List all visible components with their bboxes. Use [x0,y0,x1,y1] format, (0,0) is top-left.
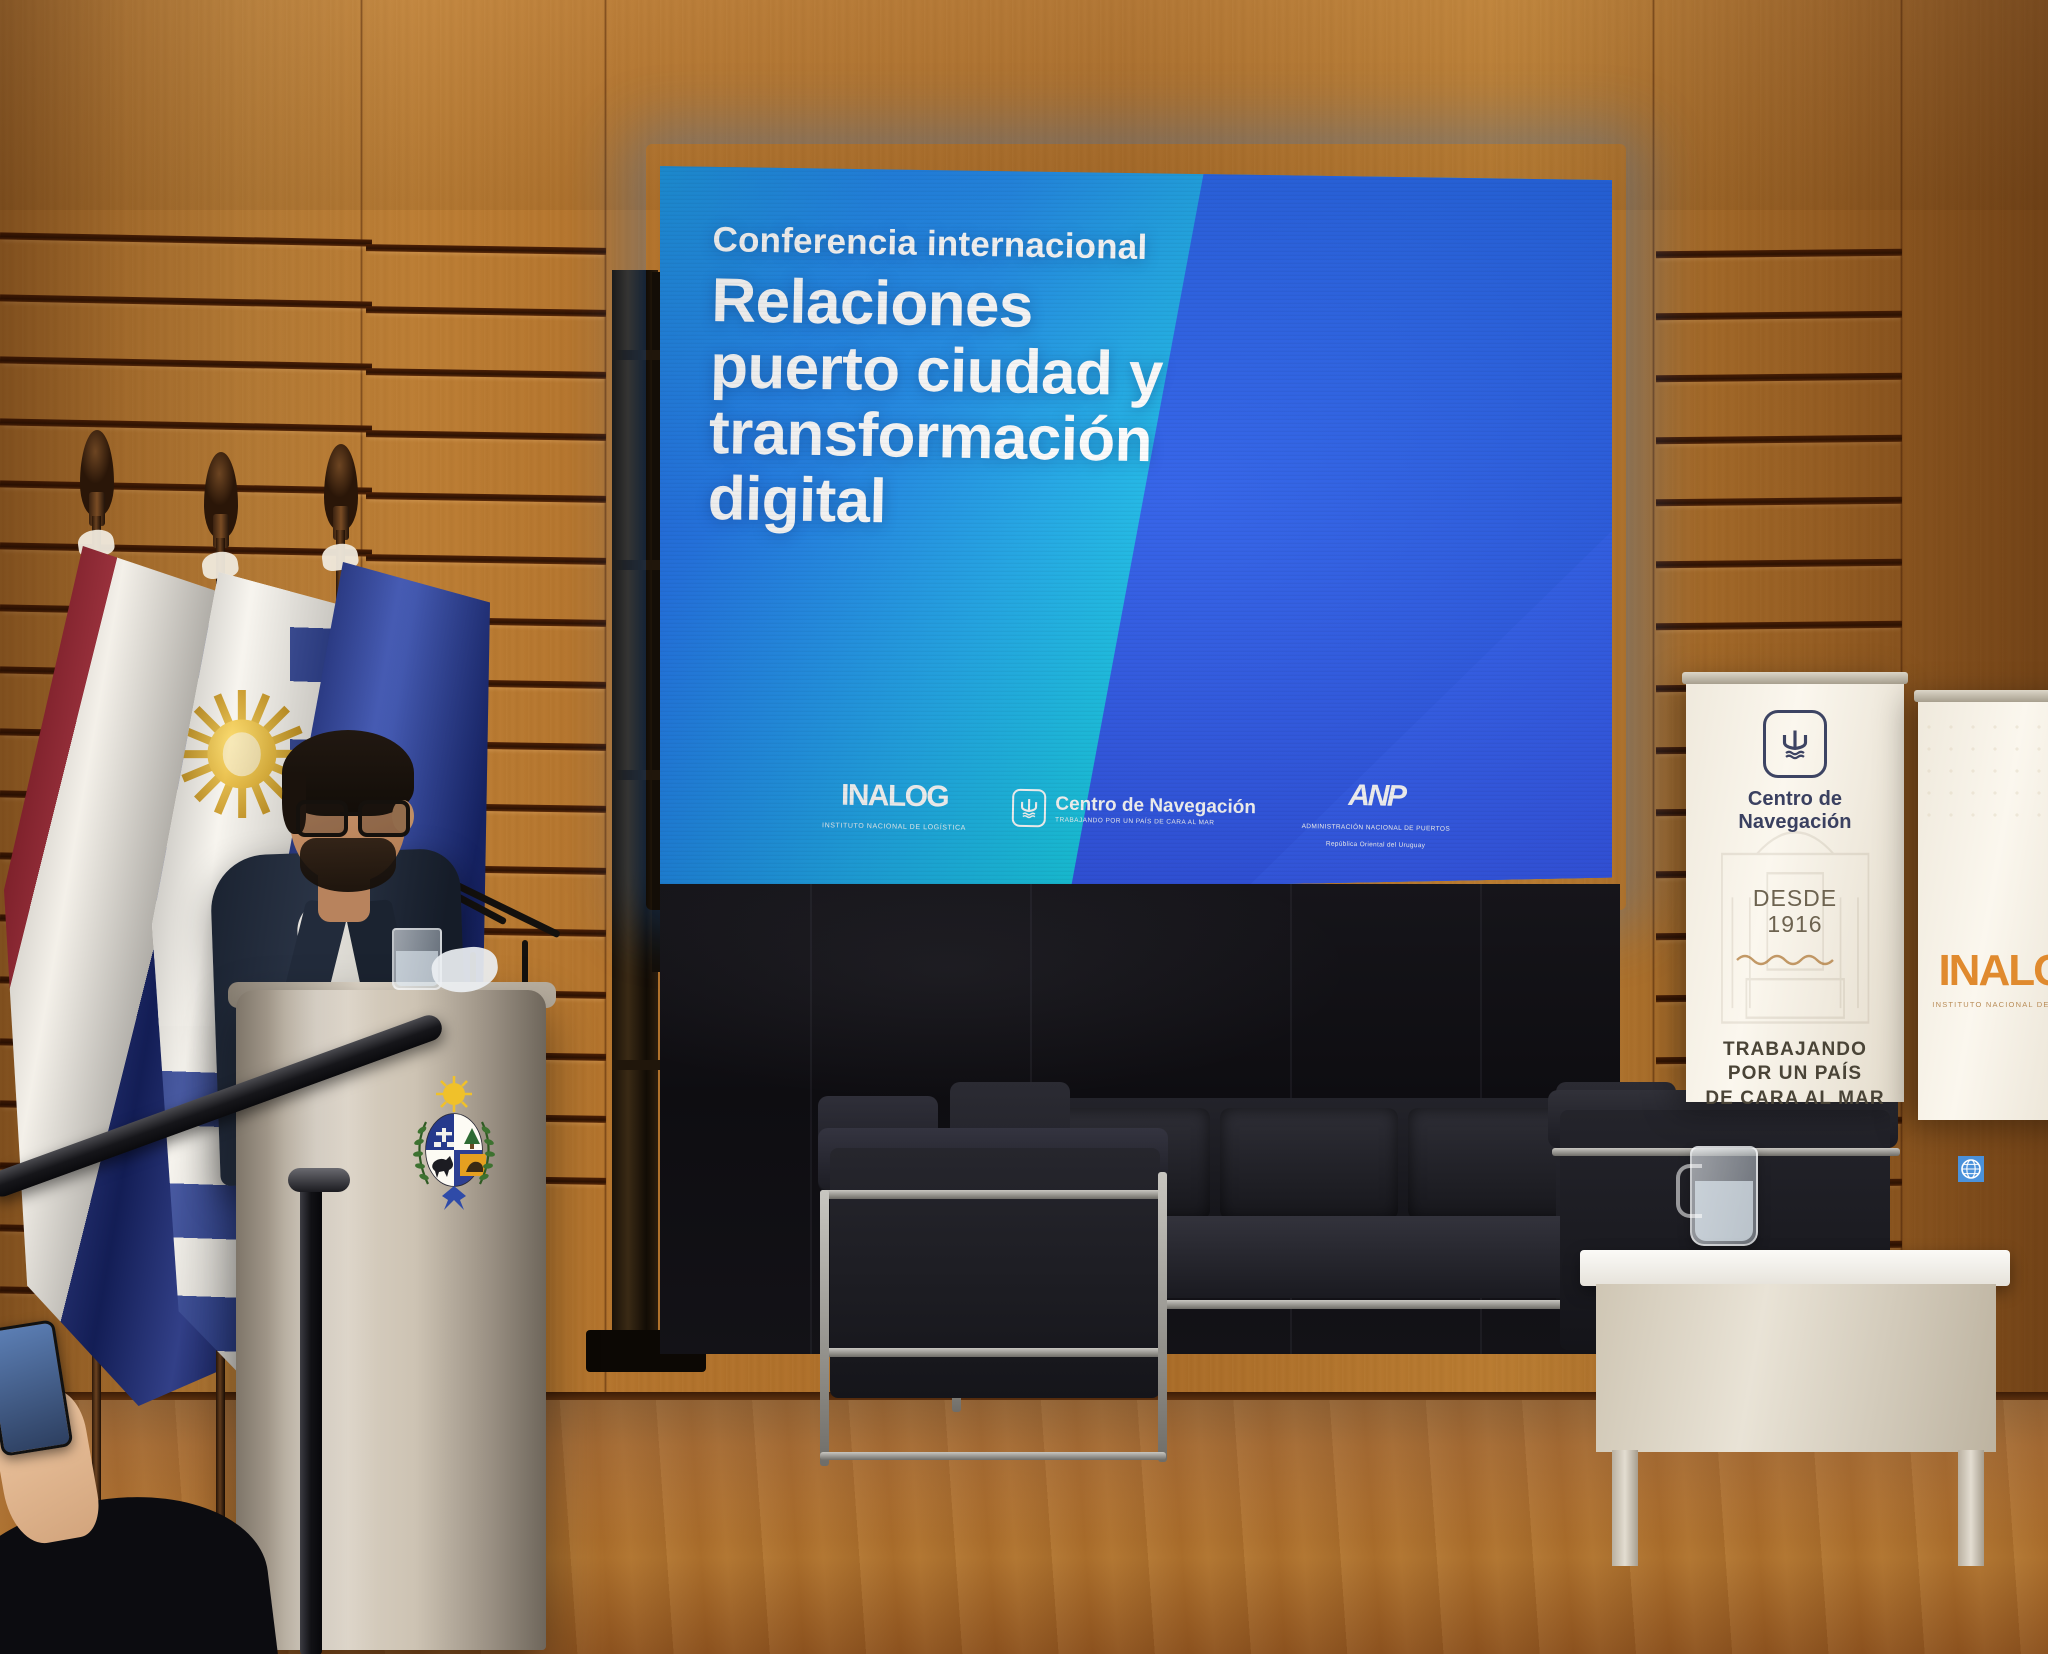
banner-rail [1682,672,1908,684]
sofa-cushion [1220,1108,1398,1220]
banner-centro-navegacion: Centro de Navegación DESDE 1916 TRABAJAN… [1686,672,1904,1102]
banner-cn-slogan-3: DE CARA AL MAR [1705,1088,1884,1109]
led-screen[interactable]: Conferencia internacional Relaciones pue… [660,158,1612,896]
speaker-beard [300,838,396,892]
armchair-left [830,1148,1160,1398]
uruguay-coat-of-arms-icon [398,1072,510,1220]
armchair-chrome-leg [820,1190,829,1466]
trident-badge-icon [1763,710,1827,778]
table-leg [1612,1450,1638,1566]
armchair-chrome-frame [820,1452,1166,1460]
white-low-table-top [1580,1250,2010,1286]
banner-cn-since: DESDE 1916 [1700,886,1890,938]
banner-rail [1914,690,2048,702]
armchair-chrome-leg [1158,1172,1167,1462]
banner-cn-slogan-2: POR UN PAÍS [1728,1063,1862,1084]
banner-inalog: INALOG INSTITUTO NACIONAL DE LOGÍSTICA [1918,690,2048,1120]
pitcher-water [1695,1181,1753,1241]
armchair-chrome-frame [820,1190,1166,1199]
white-low-table-body [1596,1284,1996,1452]
water-pitcher [1690,1146,1758,1246]
eyeglasses-icon [296,800,402,830]
armchair-chrome-frame [820,1348,1166,1357]
conference-stage-photo: Conferencia internacional Relaciones pue… [0,0,2048,1654]
banner-cn-slogan-1: TRABAJANDO [1723,1039,1867,1060]
globe-icon [1958,1156,1984,1182]
banner-inalog-wordmark: INALOG [1918,946,2048,996]
banner-cn-since-label: DESDE [1753,885,1837,911]
banner-cn-since-year: 1916 [1767,911,1822,937]
table-flag-international [1958,1156,1984,1182]
banner-inalog-subtitle: INSTITUTO NACIONAL DE LOGÍSTICA [1918,1000,2048,1009]
banner-cn-slogan: TRABAJANDO POR UN PAÍS DE CARA AL MAR [1700,1038,1890,1112]
banner-cn-title: Centro de Navegación [1700,788,1890,834]
handrail-post [300,1185,322,1654]
pitcher-handle [1676,1164,1702,1218]
drape-fold [810,884,812,1354]
wave-ornament-icon [1735,950,1855,966]
screen-scanlines [660,158,1612,896]
screen-surface: Conferencia internacional Relaciones pue… [660,158,1612,896]
table-leg [1958,1450,1984,1566]
handrail-cap [288,1168,350,1192]
